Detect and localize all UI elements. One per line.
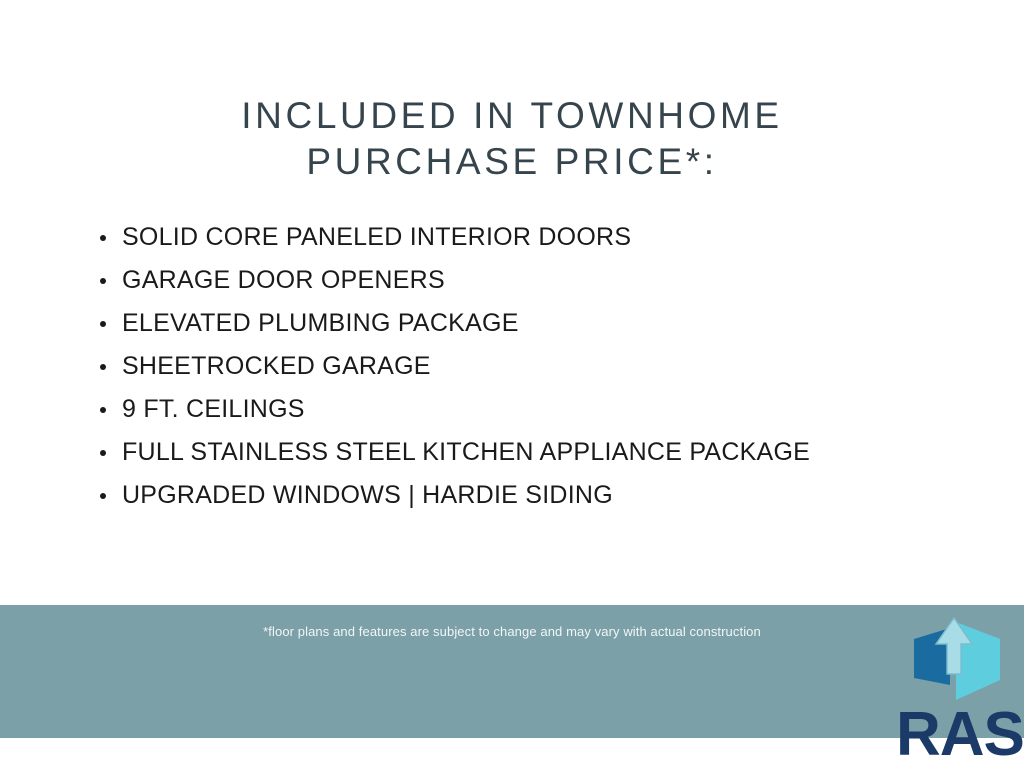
footer-disclaimer: *floor plans and features are subject to…	[0, 624, 1024, 639]
page-title: INCLUDED IN TOWNHOME PURCHASE PRICE*:	[0, 93, 1024, 185]
list-item: ELEVATED PLUMBING PACKAGE	[96, 302, 996, 345]
feature-label: UPGRADED WINDOWS | HARDIE SIDING	[122, 481, 613, 509]
feature-label: ELEVATED PLUMBING PACKAGE	[122, 309, 519, 337]
bullet-icon	[100, 321, 106, 327]
bullet-icon	[100, 407, 106, 413]
bullet-icon	[100, 364, 106, 370]
list-item: SHEETROCKED GARAGE	[96, 345, 996, 388]
feature-label: FULL STAINLESS STEEL KITCHEN APPLIANCE P…	[122, 438, 810, 466]
list-item: GARAGE DOOR OPENERS	[96, 259, 996, 302]
list-item: FULL STAINLESS STEEL KITCHEN APPLIANCE P…	[96, 431, 996, 474]
page-title-line-2: PURCHASE PRICE*:	[0, 139, 1024, 185]
list-item: 9 FT. CEILINGS	[96, 388, 996, 431]
feature-label: GARAGE DOOR OPENERS	[122, 266, 445, 294]
page-title-line-1: INCLUDED IN TOWNHOME	[0, 93, 1024, 139]
bullet-icon	[100, 493, 106, 499]
bullet-icon	[100, 278, 106, 284]
bullet-icon	[100, 235, 106, 241]
list-item: SOLID CORE PANELED INTERIOR DOORS	[96, 216, 996, 259]
feature-label: 9 FT. CEILINGS	[122, 395, 305, 423]
rase-wordmark: RASE	[896, 702, 1024, 768]
bullet-icon	[100, 450, 106, 456]
included-features-list: SOLID CORE PANELED INTERIOR DOORS GARAGE…	[96, 216, 996, 517]
feature-label: SHEETROCKED GARAGE	[122, 352, 431, 380]
slide-canvas: INCLUDED IN TOWNHOME PURCHASE PRICE*: SO…	[0, 0, 1024, 768]
rase-logo: RASE	[896, 612, 1024, 768]
list-item: UPGRADED WINDOWS | HARDIE SIDING	[96, 474, 996, 517]
footer-band: *floor plans and features are subject to…	[0, 605, 1024, 738]
rase-open-book-arrow-logo-icon	[904, 612, 1014, 704]
feature-label: SOLID CORE PANELED INTERIOR DOORS	[122, 223, 631, 251]
